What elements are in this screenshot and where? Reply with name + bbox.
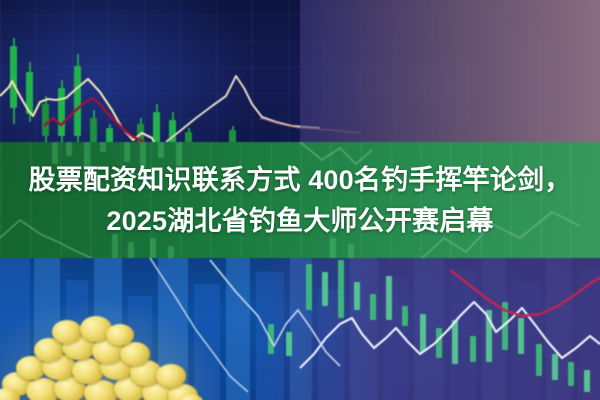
purple-haze-overlay bbox=[300, 0, 600, 146]
headline-text: 股票配资知识联系方式 400名钓手挥竿论剑，2025湖北省钓鱼大师公开赛启幕 bbox=[0, 160, 600, 242]
gold-coin-pile bbox=[0, 314, 202, 400]
bottom-chart-panel bbox=[0, 258, 600, 400]
top-chart-panel bbox=[0, 0, 600, 146]
news-thumbnail-image: 股票配资知识联系方式 400名钓手挥竿论剑，2025湖北省钓鱼大师公开赛启幕 bbox=[0, 0, 600, 400]
